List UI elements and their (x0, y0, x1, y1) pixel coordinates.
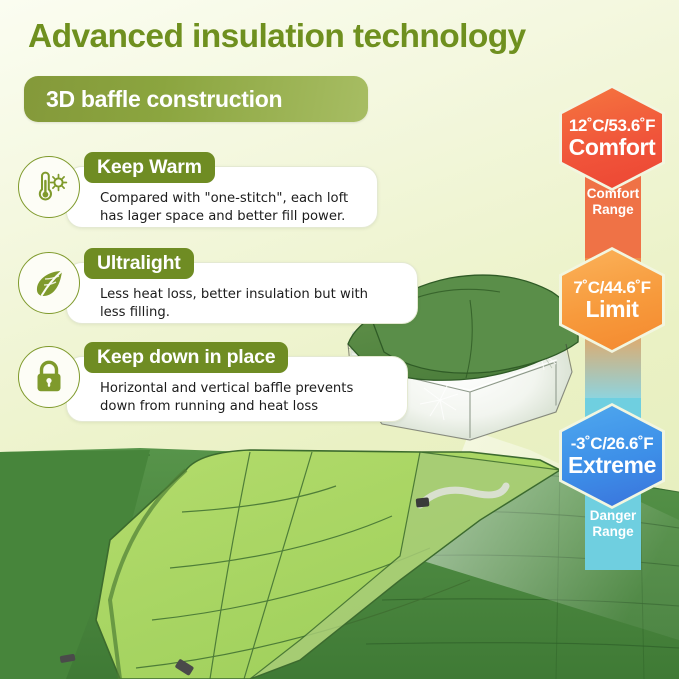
range-bar-label: Comfort Range (585, 186, 641, 218)
range-label-line2: Range (585, 524, 641, 540)
feature-description-line1: Less heat loss, better insulation but wi… (100, 286, 368, 304)
feature-description-line1: Horizontal and vertical baffle prevents (100, 380, 353, 398)
feature-tag-label: Keep Warm (84, 152, 215, 183)
thermometer-sun-icon (18, 156, 80, 218)
temp-badge-extreme: -3˚C/26.6˚F Extreme (562, 406, 662, 506)
temp-badge-comfort: 12˚C/53.6˚F Comfort (562, 88, 662, 188)
infographic-root: Advanced insulation technology 3D baffle… (0, 0, 679, 679)
range-bar-label: Danger Range (585, 508, 641, 540)
badge-temperature: 7˚C/44.6˚F (573, 278, 650, 298)
temperature-scale: Comfort Range Transition Range Danger Ra… (563, 88, 661, 574)
feature-description-line2: less filling. (100, 304, 368, 322)
padlock-icon (18, 346, 80, 408)
badge-name: Limit (586, 296, 639, 323)
feature-description-line2: has lager space and better fill power. (100, 208, 348, 226)
badge-temperature: -3˚C/26.6˚F (571, 434, 654, 454)
range-label-line2: Range (585, 202, 641, 218)
feature-description-line2: down from running and heat loss (100, 398, 353, 416)
page-title: Advanced insulation technology (28, 18, 658, 56)
feature-tag-label: Keep down in place (84, 342, 288, 373)
subtitle-pill-label: 3D baffle construction (24, 76, 368, 122)
feature-tag-label: Ultralight (84, 248, 194, 279)
subtitle-pill: 3D baffle construction (24, 76, 368, 122)
feather-icon (18, 252, 80, 314)
badge-name: Extreme (568, 452, 656, 479)
feature-description: Horizontal and vertical baffle prevents … (100, 380, 353, 415)
badge-temperature: 12˚C/53.6˚F (569, 116, 655, 136)
feature-card-ultralight: Ultralight Less heat loss, better insula… (18, 248, 378, 328)
feature-card-keep-warm: Keep Warm Compared with "one-stitch", ea… (18, 152, 378, 232)
feature-description-line1: Compared with "one-stitch", each loft (100, 190, 348, 208)
range-label-line1: Danger (585, 508, 641, 524)
badge-name: Comfort (569, 134, 656, 161)
temp-badge-limit: 7˚C/44.6˚F Limit (562, 250, 662, 350)
feature-description: Less heat loss, better insulation but wi… (100, 286, 368, 321)
feature-description: Compared with "one-stitch", each loft ha… (100, 190, 348, 225)
feature-card-keep-down-in-place: Keep down in place Horizontal and vertic… (18, 342, 378, 422)
